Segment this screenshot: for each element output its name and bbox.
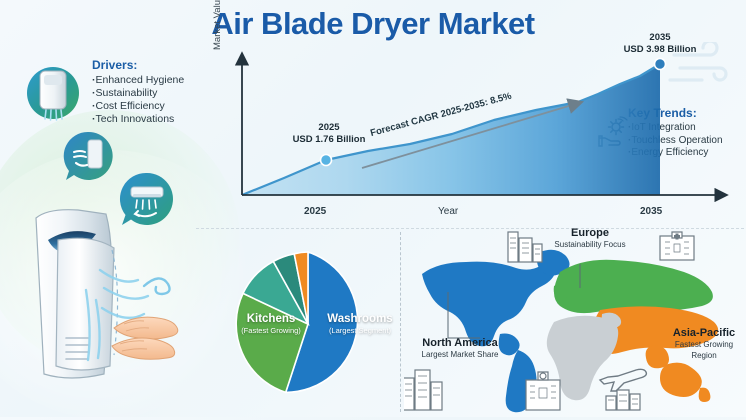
hand-dryer-icon xyxy=(18,58,88,133)
pie-label-kitchens-title: Kitchens xyxy=(228,314,314,325)
market-growth-chart: Market Value (USD Billion) xyxy=(212,50,732,230)
chart-x-axis-label: Year xyxy=(438,206,458,217)
pie-label-washrooms: Washrooms (Largest Segment) xyxy=(314,314,406,336)
pie-label-washrooms-title: Washrooms xyxy=(314,314,406,325)
map-label-north-america-subtitle: Largest Market Share xyxy=(400,349,520,360)
map-label-europe-subtitle: Sustainability Focus xyxy=(520,239,660,250)
chart-xtick-2025: 2025 xyxy=(304,206,326,217)
hand-dryer-with-hands-illustration xyxy=(16,200,226,420)
map-label-asia-pacific-subtitle: Fastest Growing Region xyxy=(662,339,746,361)
drivers-list: Enhanced Hygiene Sustainability Cost Eff… xyxy=(92,74,184,126)
hospital-icon xyxy=(660,232,694,260)
start-year: 2025 xyxy=(318,122,339,133)
chart-annotation-start: 2025 USD 1.76 Billion xyxy=(274,122,384,146)
map-label-asia-pacific-title: Asia-Pacific xyxy=(662,328,746,339)
chart-y-axis-label: Market Value (USD Billion) xyxy=(212,0,223,50)
airplane-icon xyxy=(600,369,646,391)
factory-icon xyxy=(606,390,640,410)
world-map: Europe Sustainability Focus North Americ… xyxy=(404,230,744,420)
drivers-heading: Drivers: xyxy=(92,58,184,72)
end-year: 2035 xyxy=(649,32,670,43)
map-label-asia-pacific: Asia-Pacific Fastest Growing Region xyxy=(662,328,746,361)
pie-label-washrooms-subtitle: (Largest Segment) xyxy=(314,325,406,336)
infographic-canvas: Air Blade Dryer Market xyxy=(0,0,746,417)
pie-label-kitchens: Kitchens (Fastest Growing) xyxy=(228,314,314,336)
start-value: USD 1.76 Billion xyxy=(293,134,366,145)
handwash-dryer-icon xyxy=(62,130,114,187)
city-tower-icon xyxy=(404,370,442,410)
section-divider-horizontal xyxy=(196,228,744,229)
chart-xtick-2035: 2035 xyxy=(640,206,662,217)
drivers-item-0: Enhanced Hygiene xyxy=(92,74,184,87)
end-value: USD 3.98 Billion xyxy=(624,44,697,55)
map-label-europe: Europe Sustainability Focus xyxy=(520,228,660,250)
map-label-north-america-title: North America xyxy=(400,338,520,349)
pie-label-kitchens-subtitle: (Fastest Growing) xyxy=(228,325,314,336)
map-label-north-america: North America Largest Market Share xyxy=(400,338,520,360)
drivers-item-3: Tech Innovations xyxy=(92,113,184,126)
chart-annotation-end: 2035 USD 3.98 Billion xyxy=(604,32,716,56)
drivers-item-1: Sustainability xyxy=(92,87,184,100)
drivers-block: Drivers: Enhanced Hygiene Sustainability… xyxy=(92,58,184,126)
drivers-item-2: Cost Efficiency xyxy=(92,100,184,113)
map-label-europe-title: Europe xyxy=(520,228,660,239)
segment-share-pie-chart: Washrooms (Largest Segment) Kitchens (Fa… xyxy=(232,248,384,405)
map-region-europe xyxy=(554,260,713,313)
